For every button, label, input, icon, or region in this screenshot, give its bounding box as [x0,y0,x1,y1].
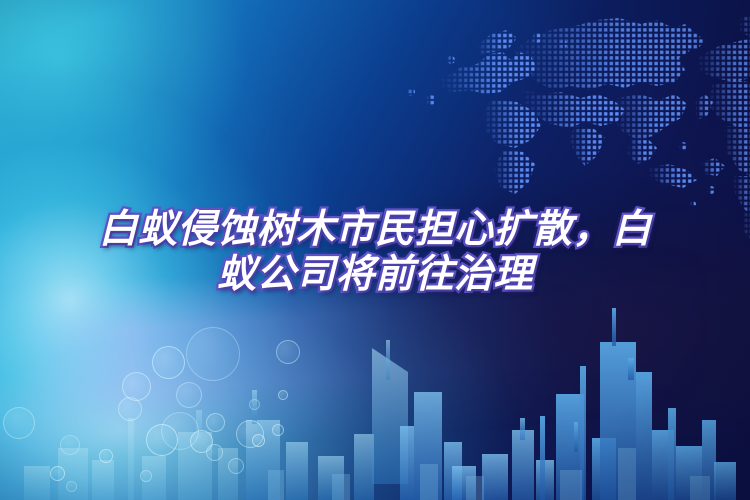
news-banner: 白蚁侵蚀树木市民担心扩散，白 蚁公司将前往治理 [0,0,750,500]
headline: 白蚁侵蚀树木市民担心扩散，白 蚁公司将前往治理 [0,208,750,296]
city-skyline-icon [0,270,750,500]
headline-line-1: 白蚁侵蚀树木市民担心扩散，白 [0,208,750,251]
headline-line-2: 蚁公司将前往治理 [0,253,750,296]
